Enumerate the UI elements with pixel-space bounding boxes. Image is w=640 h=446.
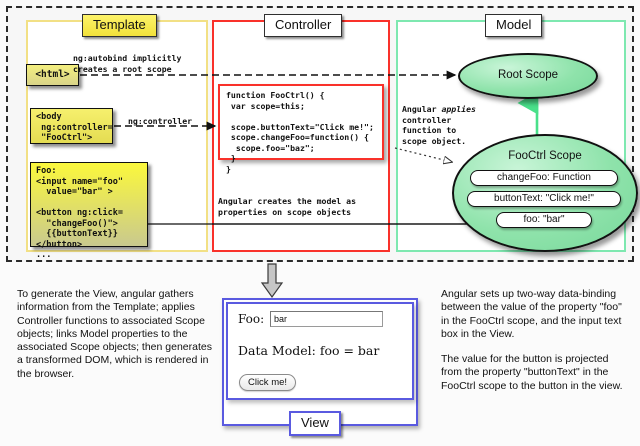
view-foo-input[interactable]: bar xyxy=(270,311,383,327)
body-tag-box: <body ng:controller= "FooCtrl"> xyxy=(30,108,113,144)
annotation-autobind: ng:autobind implicitly creates a root sc… xyxy=(73,53,181,74)
view-data-model-text: Data Model: foo = bar xyxy=(238,343,379,358)
panel-title-template: Template xyxy=(82,14,157,37)
caption-right: Angular sets up two-way data-binding bet… xyxy=(441,288,631,405)
annotation-applies-controller: Angular applies controller function to s… xyxy=(402,104,476,146)
caption-right-paragraph-2: The value for the button is projected fr… xyxy=(441,353,631,393)
scope-property-changefoo: changeFoo: Function xyxy=(470,170,618,186)
panel-title-model: Model xyxy=(485,14,542,37)
scope-property-foo: foo: "bar" xyxy=(496,212,592,228)
scope-property-buttontext: buttonText: "Click me!" xyxy=(467,191,621,207)
diagram-canvas: Template Controller Model <html> <body n… xyxy=(0,0,640,446)
controller-code-box: function FooCtrl() { var scope=this; sco… xyxy=(218,84,384,160)
panel-title-controller: Controller xyxy=(264,14,342,37)
annotation-ng-controller: ng:controller xyxy=(128,116,192,127)
caption-right-paragraph-1: Angular sets up two-way data-binding bet… xyxy=(441,288,631,341)
html-tag-box: <html> xyxy=(26,64,79,86)
annotation-applies-post: controller function to scope object. xyxy=(402,115,466,146)
root-scope-ellipse: Root Scope xyxy=(458,53,598,99)
caption-left: To generate the View, angular gathers in… xyxy=(17,288,213,393)
arrow-to-view xyxy=(262,264,282,297)
annotation-applies-pre: Angular xyxy=(402,104,441,114)
template-markup-box: Foo: <input name="foo" value="bar" > <bu… xyxy=(30,162,148,247)
view-foo-label: Foo: xyxy=(238,312,264,326)
annotation-applies-emphasis: applies xyxy=(441,104,476,114)
root-scope-label: Root Scope xyxy=(460,69,596,81)
panel-title-view: View xyxy=(289,411,341,436)
view-click-me-button[interactable]: Click me! xyxy=(239,374,296,391)
fooctrl-scope-label: FooCtrl Scope xyxy=(454,150,636,162)
annotation-creates-model: Angular creates the model as properties … xyxy=(218,196,356,217)
caption-left-text: To generate the View, angular gathers in… xyxy=(17,288,213,381)
